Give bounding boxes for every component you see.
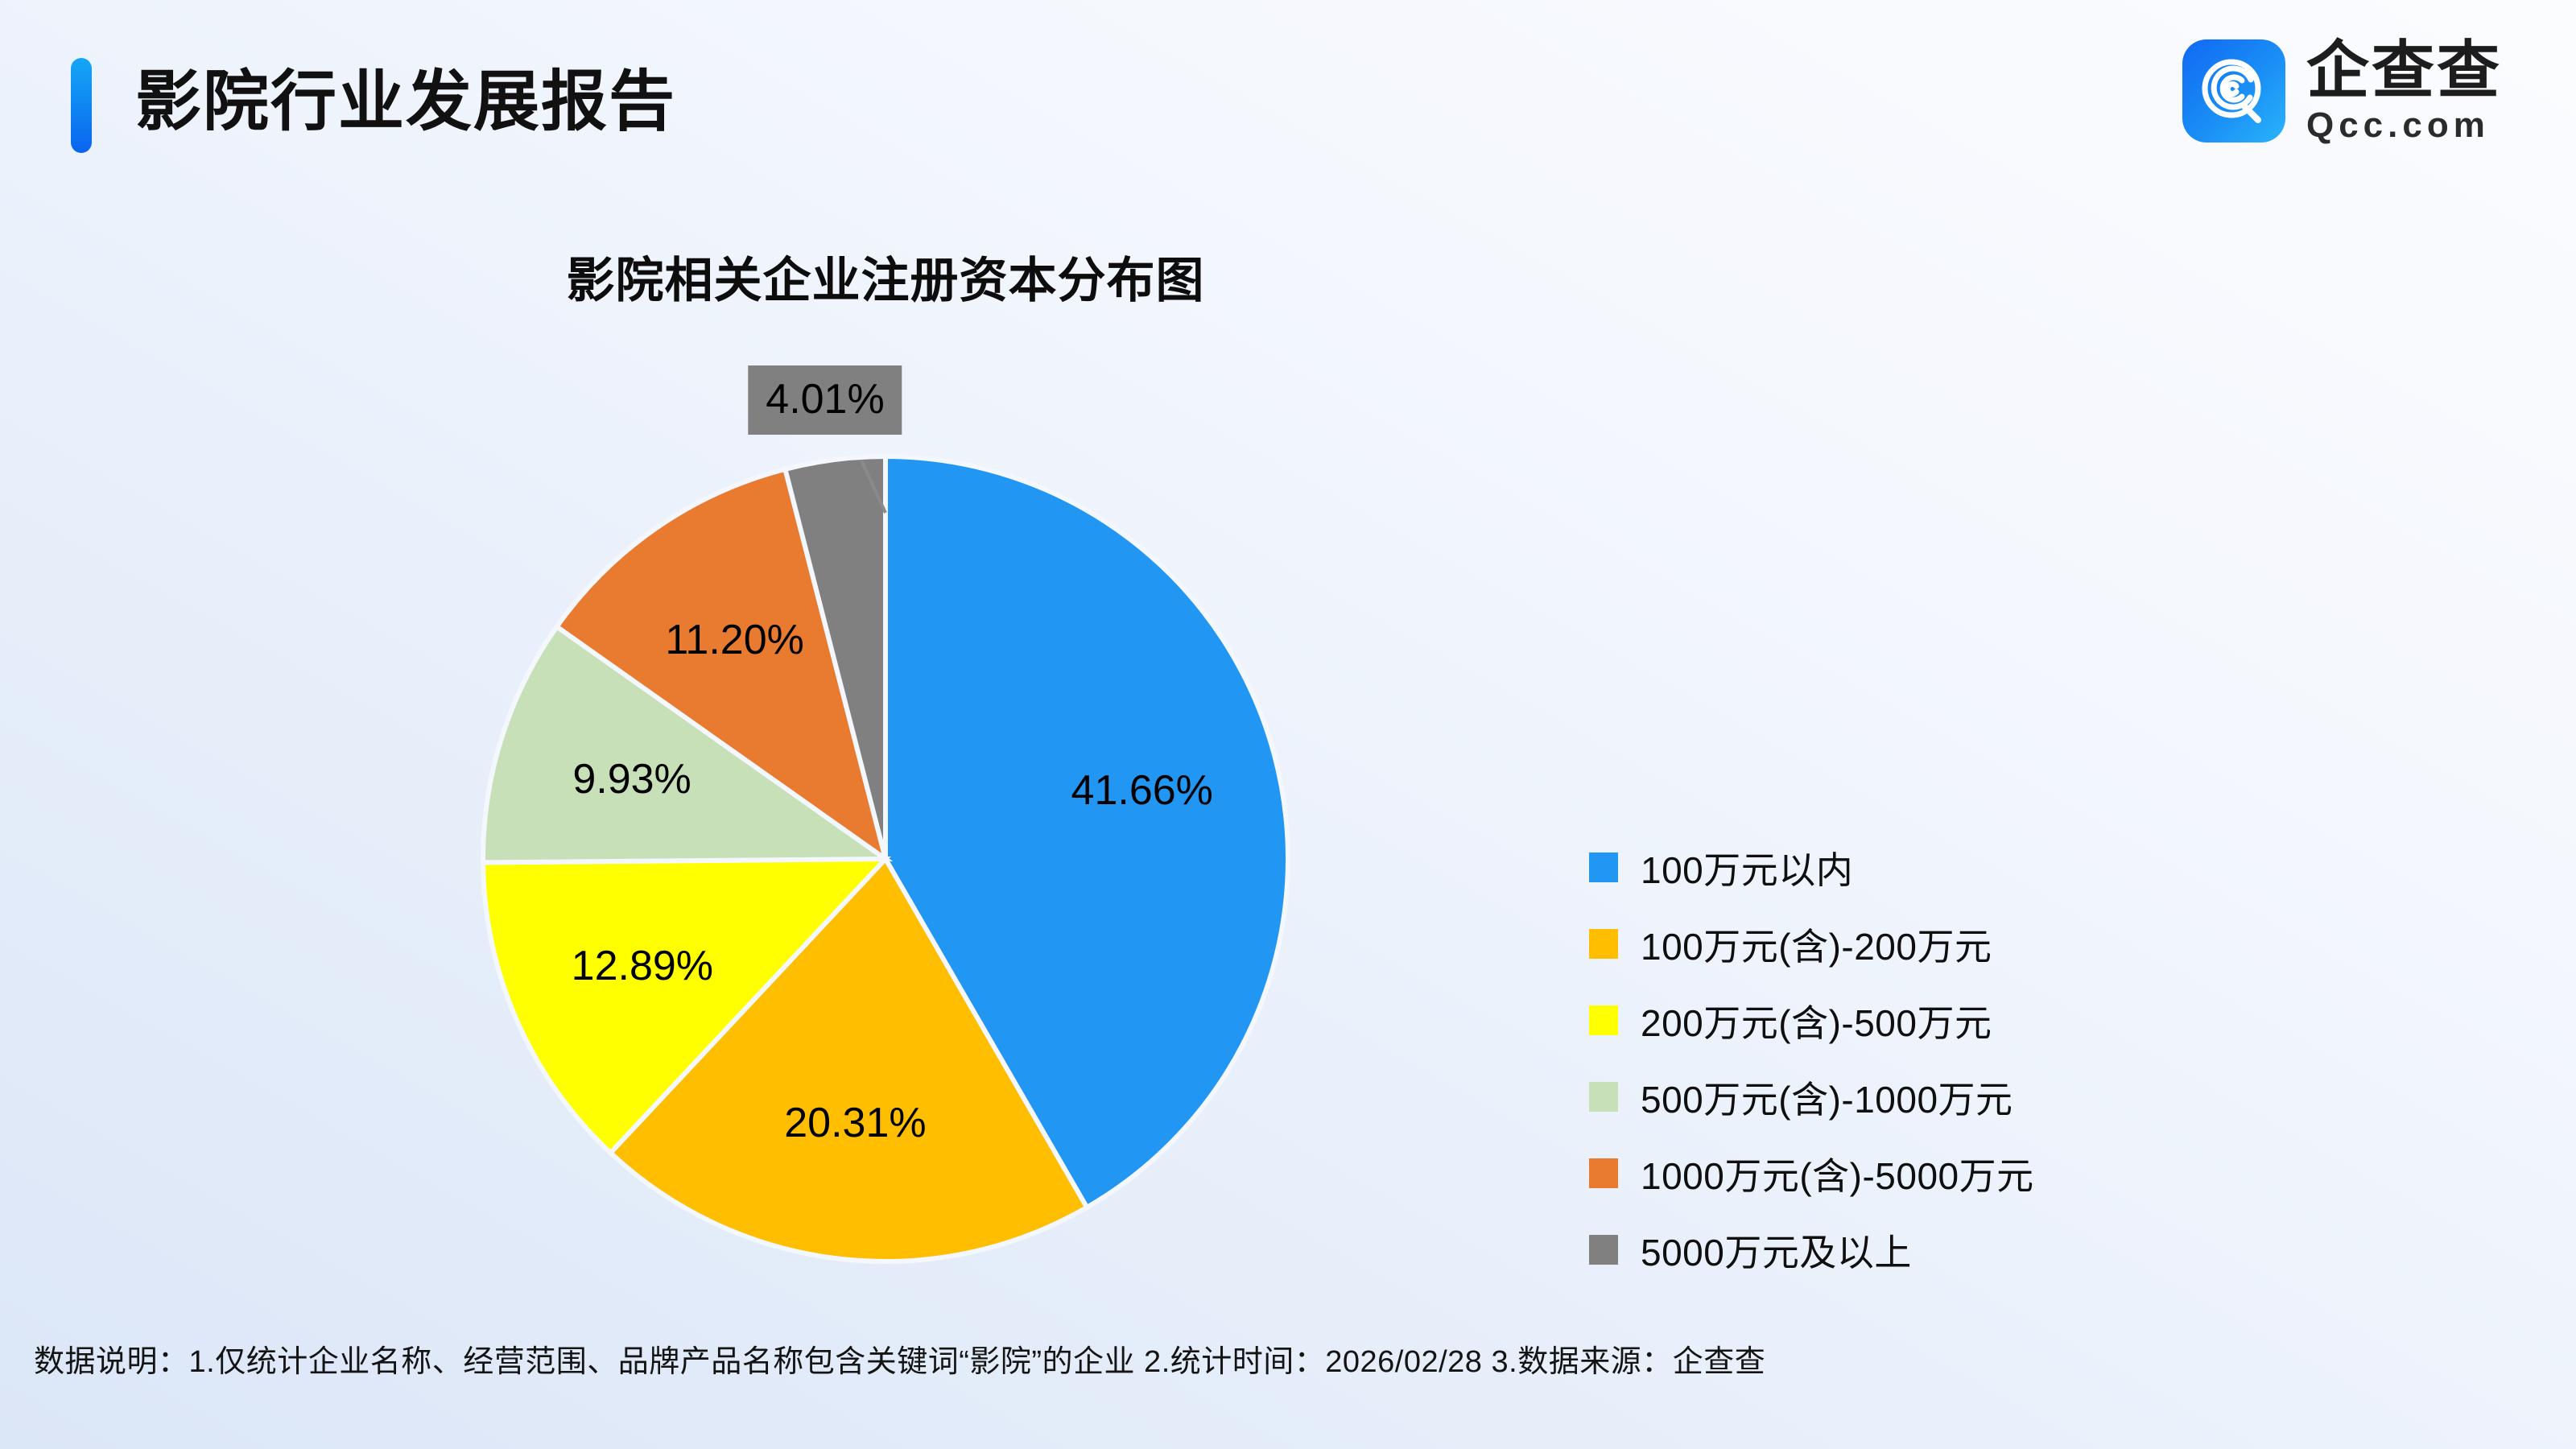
chart-legend: 100万元以内100万元(含)-200万元200万元(含)-500万元500万元… bbox=[1589, 829, 2314, 1288]
legend-color-swatch bbox=[1589, 852, 1618, 882]
pie-slice-label: 9.93% bbox=[572, 755, 691, 803]
chart-title: 影院相关企业注册资本分布图 bbox=[0, 242, 1771, 312]
legend-color-swatch bbox=[1589, 1005, 1618, 1035]
pie-chart: 41.66%20.31%12.89%9.93%11.20%4.01% 100万元… bbox=[0, 346, 2576, 1296]
legend-item-label: 100万元(含)-200万元 bbox=[1641, 918, 1992, 971]
legend-item[interactable]: 100万元以内 bbox=[1589, 829, 2314, 906]
legend-item-label: 500万元(含)-1000万元 bbox=[1641, 1071, 2013, 1124]
qcc-spiral-q-icon bbox=[2182, 39, 2285, 142]
pie-slice-label: 12.89% bbox=[572, 942, 713, 990]
pie-slice-label: 4.01% bbox=[748, 365, 902, 435]
page-title: 影院行业发展报告 bbox=[135, 50, 676, 155]
legend-item-label: 100万元以内 bbox=[1641, 841, 1853, 894]
logo-en-name: Qcc.com bbox=[2306, 108, 2502, 143]
legend-color-swatch bbox=[1589, 1235, 1618, 1265]
brand-logo: 企查查 Qcc.com bbox=[2182, 39, 2502, 143]
legend-color-swatch bbox=[1589, 1158, 1618, 1188]
legend-item[interactable]: 200万元(含)-500万元 bbox=[1589, 982, 2314, 1059]
legend-item[interactable]: 500万元(含)-1000万元 bbox=[1589, 1059, 2314, 1135]
legend-item[interactable]: 1000万元(含)-5000万元 bbox=[1589, 1135, 2314, 1212]
pie-graphic: 41.66%20.31%12.89%9.93%11.20%4.01% bbox=[479, 452, 1292, 1265]
logo-cn-name: 企查查 bbox=[2306, 39, 2502, 101]
logo-text-block: 企查查 Qcc.com bbox=[2306, 39, 2502, 143]
legend-item[interactable]: 5000万元及以上 bbox=[1589, 1212, 2314, 1288]
legend-item-label: 5000万元及以上 bbox=[1641, 1224, 1912, 1277]
legend-item-label: 1000万元(含)-5000万元 bbox=[1641, 1147, 2034, 1200]
pie-slice-label: 41.66% bbox=[1071, 766, 1213, 815]
footer-note: 数据说明：1.仅统计企业名称、经营范围、品牌产品名称包含关键词“影院”的企业 2… bbox=[34, 1336, 1765, 1381]
title-accent-bar bbox=[71, 58, 92, 153]
pie-slice-label: 11.20% bbox=[665, 616, 804, 664]
page-header: 影院行业发展报告 企查查 Qcc.com bbox=[0, 0, 2576, 185]
legend-item-label: 200万元(含)-500万元 bbox=[1641, 994, 1992, 1047]
legend-item[interactable]: 100万元(含)-200万元 bbox=[1589, 906, 2314, 982]
legend-color-swatch bbox=[1589, 1082, 1618, 1112]
pie-slice-label: 20.31% bbox=[784, 1099, 926, 1147]
legend-color-swatch bbox=[1589, 929, 1618, 959]
